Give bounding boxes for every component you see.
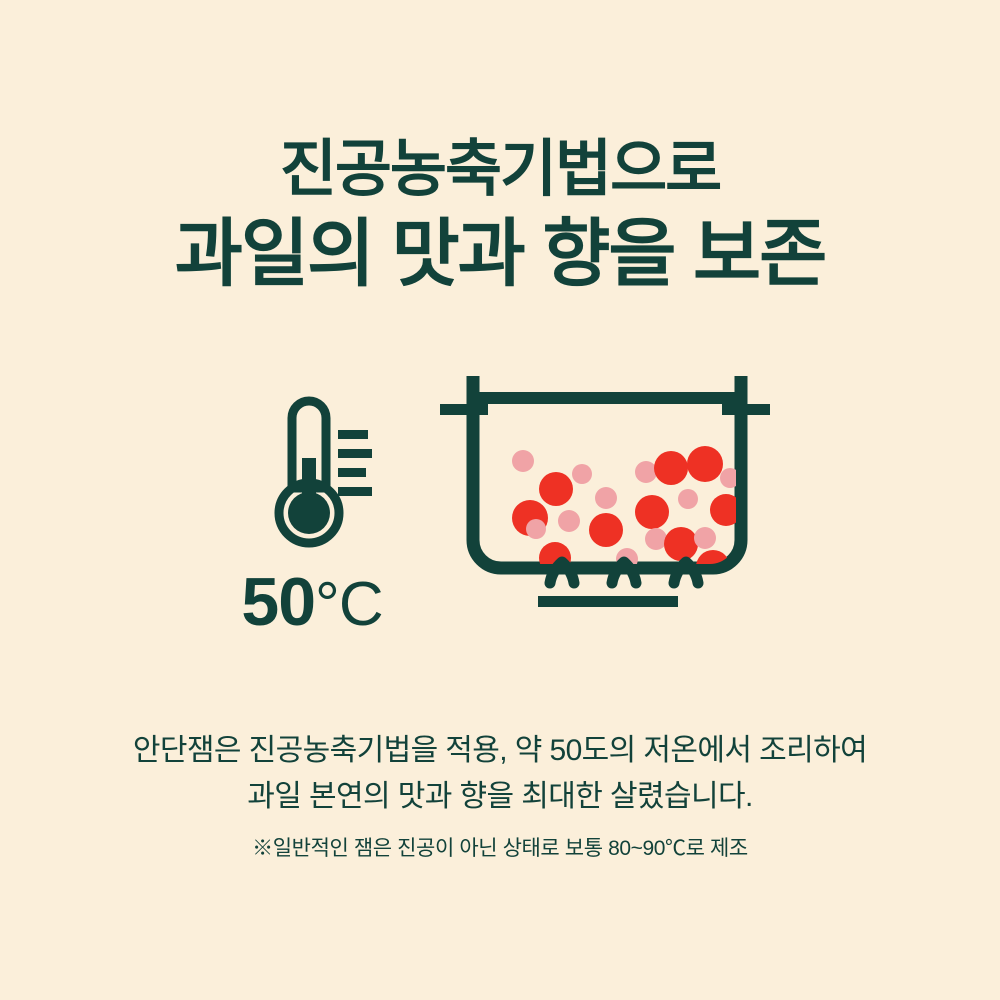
body-copy: 안단잼은 진공농축기법을 적용, 약 50도의 저온에서 조리하여 과일 본연의… <box>0 728 1000 820</box>
fruit-dot-pink <box>694 527 716 549</box>
temperature-label: 50°C <box>212 563 412 641</box>
cooking-pot-icon <box>440 368 770 643</box>
promo-poster: 진공농축기법으로 과일의 맛과 향을 보존 50°C <box>0 0 1000 1000</box>
fruit-dot-red <box>664 527 698 561</box>
fruit-dot-pink <box>635 461 657 483</box>
body-line-1: 안단잼은 진공농축기법을 적용, 약 50도의 저온에서 조리하여 <box>0 728 1000 774</box>
fruit-dot-red <box>589 513 623 547</box>
fruit-dot-pink <box>521 573 543 595</box>
headline-line-1: 진공농축기법으로 <box>0 139 1000 201</box>
temperature-unit: °C <box>315 570 383 639</box>
burner-base <box>538 596 678 607</box>
fruit-dot-pink <box>512 450 534 472</box>
cooking-pot-group <box>440 368 770 643</box>
icon-illustration-row: 50°C <box>0 368 1000 648</box>
fruit-dot-pink <box>558 510 580 532</box>
fruit-dot-pink <box>702 582 722 602</box>
fruit-dot-red <box>539 472 573 506</box>
temperature-value: 50 <box>241 564 315 640</box>
fruit-dot-pink <box>678 489 698 509</box>
thermometer-icon <box>262 396 372 556</box>
thermometer-group: 50°C <box>212 368 412 638</box>
pot-rim <box>473 392 741 404</box>
pot-handle-left <box>440 404 488 415</box>
fruit-dot-pink <box>526 519 546 539</box>
body-line-2: 과일 본연의 맛과 향을 최대한 살렸습니다. <box>0 774 1000 820</box>
fruit-dot-red <box>687 446 723 482</box>
fruit-dot-red <box>654 451 688 485</box>
fruit-dot-pink <box>572 464 592 484</box>
headline-line-2: 과일의 맛과 향을 보존 <box>0 217 1000 291</box>
fruit-dot-pink <box>645 528 667 550</box>
fruit-dot-red <box>635 495 669 529</box>
fruit-dot-pink <box>595 487 617 509</box>
footnote-text: ※일반적인 잼은 진공이 아닌 상태로 보통 80~90℃로 제조 <box>0 832 1000 862</box>
page-title: 진공농축기법으로 과일의 맛과 향을 보존 <box>0 139 1000 291</box>
